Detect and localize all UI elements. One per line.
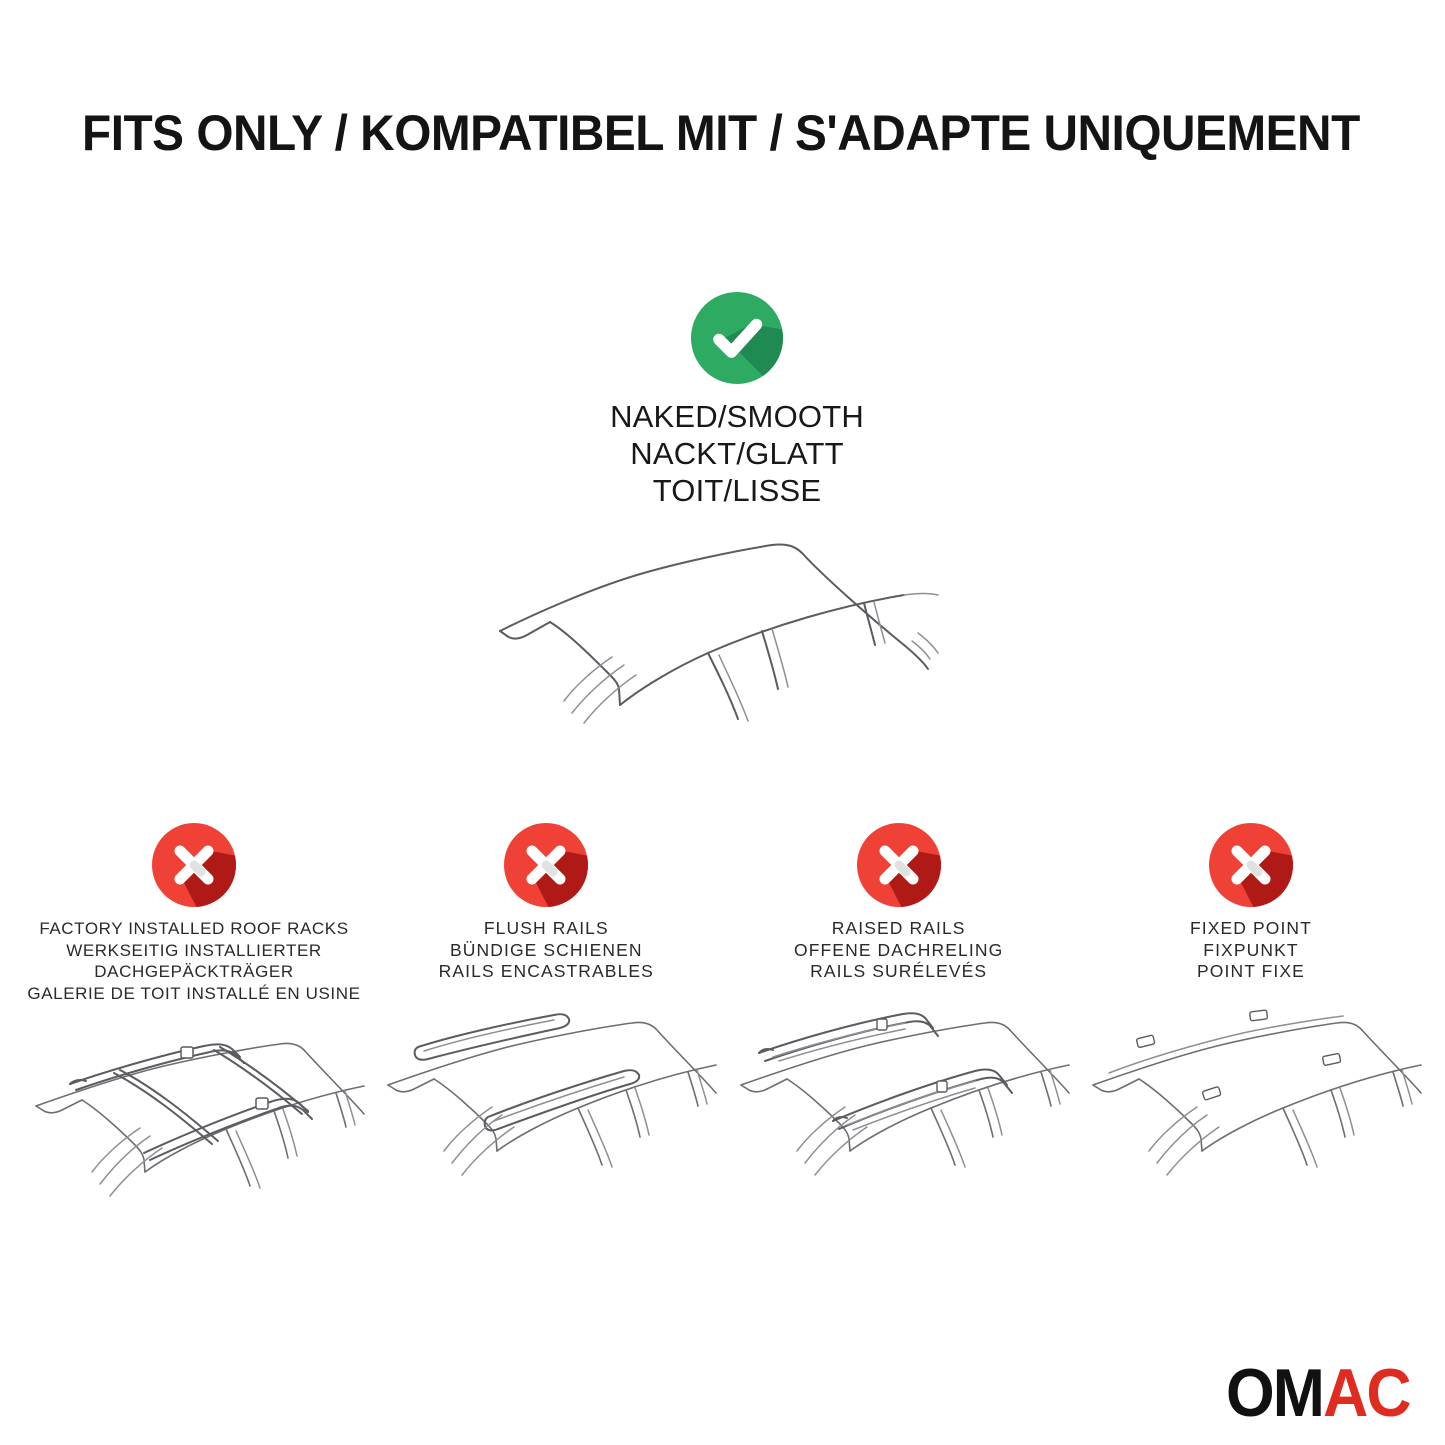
approved-label-line-1: NAKED/SMOOTH [472, 398, 1002, 435]
approved-label: NAKED/SMOOTH NACKT/GLATT TOIT/LISSE [472, 398, 1002, 509]
green-check-circle-icon [689, 290, 785, 386]
incompatible-label-flush-rails: FLUSH RAILS BÜNDIGE SCHIENEN RAILS ENCAS… [439, 918, 654, 983]
car-roof-flush-rails-illustration [370, 989, 722, 1204]
label-line-2: OFFENE DACHRELING [794, 940, 1003, 962]
car-roof-raised-rails-illustration [723, 989, 1075, 1204]
incompatible-item-raised-rails: RAISED RAILS OFFENE DACHRELING RAILS SUR… [723, 822, 1075, 1204]
label-line-2: FIXPUNKT [1190, 940, 1312, 962]
label-line-2: BÜNDIGE SCHIENEN [439, 940, 654, 962]
page-root: FITS ONLY / KOMPATIBEL MIT / S'ADAPTE UN… [0, 0, 1445, 1445]
omac-logo-dark-part: OM [1226, 1355, 1323, 1431]
approved-label-line-2: NACKT/GLATT [472, 435, 1002, 472]
label-line-3: RAILS ENCASTRABLES [439, 961, 654, 983]
incompatible-roof-types-row: FACTORY INSTALLED ROOF RACKS WERKSEITIG … [0, 822, 1445, 1225]
red-x-circle-icon [1208, 822, 1294, 908]
label-line-1: FIXED POINT [1190, 918, 1312, 940]
label-line-4: GALERIE DE TOIT INSTALLÉ EN USINE [27, 983, 360, 1005]
incompatible-item-factory-installed-roof-racks: FACTORY INSTALLED ROOF RACKS WERKSEITIG … [18, 822, 370, 1225]
red-x-circle-icon [503, 822, 589, 908]
label-line-3: POINT FIXE [1190, 961, 1312, 983]
label-line-1: FACTORY INSTALLED ROOF RACKS [27, 918, 360, 940]
approved-label-line-3: TOIT/LISSE [472, 472, 1002, 509]
red-x-circle-icon [151, 822, 237, 908]
label-line-3: DACHGEPÄCKTRÄGER [27, 961, 360, 983]
incompatible-label-raised-rails: RAISED RAILS OFFENE DACHRELING RAILS SUR… [794, 918, 1003, 983]
omac-logo: OMAC [1226, 1359, 1410, 1427]
car-roof-fixed-point-illustration [1075, 989, 1427, 1204]
incompatible-label-factory-installed-roof-racks: FACTORY INSTALLED ROOF RACKS WERKSEITIG … [27, 918, 360, 1004]
car-roof-factory-rack-illustration [18, 1010, 370, 1225]
incompatible-item-fixed-point: FIXED POINT FIXPUNKT POINT FIXE [1075, 822, 1427, 1204]
incompatible-item-flush-rails: FLUSH RAILS BÜNDIGE SCHIENEN RAILS ENCAS… [370, 822, 722, 1204]
label-line-2: WERKSEITIG INSTALLIERTER [27, 940, 360, 962]
page-title: FITS ONLY / KOMPATIBEL MIT / S'ADAPTE UN… [82, 104, 1314, 162]
label-line-3: RAILS SURÉLEVÉS [794, 961, 1003, 983]
red-x-circle-icon [856, 822, 942, 908]
omac-logo-red-part: AC [1323, 1355, 1410, 1431]
incompatible-label-fixed-point: FIXED POINT FIXPUNKT POINT FIXE [1190, 918, 1312, 983]
label-line-1: FLUSH RAILS [439, 918, 654, 940]
approved-roof-type-block: NAKED/SMOOTH NACKT/GLATT TOIT/LISSE [472, 290, 1002, 773]
car-roof-naked-smooth-illustration [472, 523, 1002, 773]
label-line-1: RAISED RAILS [794, 918, 1003, 940]
